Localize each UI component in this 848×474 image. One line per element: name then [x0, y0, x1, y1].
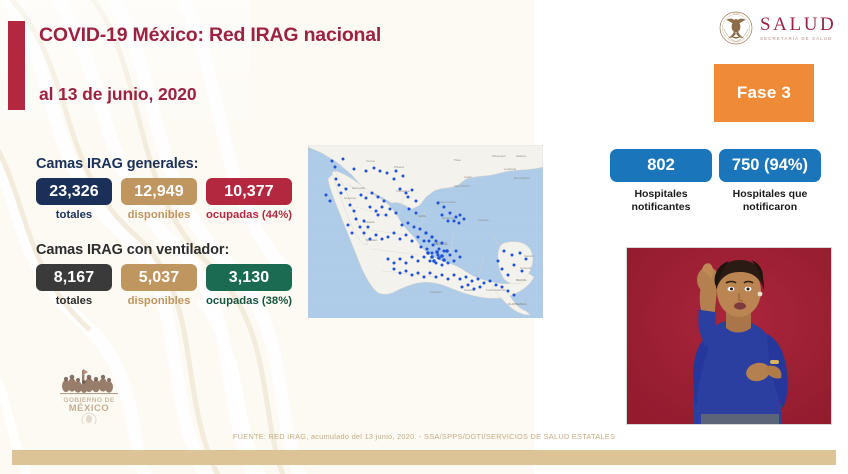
hospital-value-badge: 802 — [610, 149, 712, 182]
svg-text:Chihuahua: Chihuahua — [396, 189, 410, 193]
salud-logo: ★ ★ ★ SALUD SECRETARÍA DE SALUD — [719, 11, 836, 45]
stat-sublabel: disponibles — [121, 295, 197, 308]
svg-text:Austin: Austin — [464, 175, 472, 179]
stat-item-general-disponibles: 12,949 disponibles — [121, 178, 197, 222]
interpreter-figure — [627, 248, 832, 425]
beds-general-row: 23,326 totales 12,949 disponibles 10,377… — [36, 178, 292, 222]
hospital-value-badge: 750 (94%) — [719, 149, 821, 182]
sign-language-interpreter-video[interactable] — [626, 247, 832, 425]
svg-text:Tampico: Tampico — [478, 218, 489, 222]
svg-text:Mazatlán: Mazatlán — [366, 238, 378, 242]
salud-subtitle: SECRETARÍA DE SALUD — [760, 37, 836, 41]
stat-item-ventilator-totales: 8,167 totales — [36, 264, 112, 308]
map-graphic: Tucson Phoenix Tulsa Shreveport Jackson … — [308, 145, 543, 318]
beds-general-heading: Camas IRAG generales: — [36, 156, 292, 172]
gobierno-de-mexico-emblem: GOBIERNO DE MÉXICO — [58, 366, 122, 424]
stat-sublabel: ocupadas (44%) — [206, 209, 292, 222]
svg-text:GUATEMALA: GUATEMALA — [508, 302, 528, 306]
svg-text:Cancún: Cancún — [524, 254, 534, 258]
beds-ventilator-group: Camas IRAG con ventilador: 8,167 totales… — [36, 242, 292, 308]
svg-text:Louisiana: Louisiana — [504, 167, 516, 171]
page-title: COVID-19 México: Red IRAG nacional — [39, 24, 381, 47]
mexico-hospital-dot-map[interactable]: Tucson Phoenix Tulsa Shreveport Jackson … — [308, 145, 543, 318]
stat-value-badge: 23,326 — [36, 178, 112, 205]
svg-text:★ ★ ★: ★ ★ ★ — [733, 13, 739, 16]
svg-text:Hermosillo: Hermosillo — [352, 186, 366, 190]
phase-label: Fase 3 — [737, 83, 791, 103]
stat-item-ventilator-disponibles: 5,037 disponibles — [121, 264, 197, 308]
svg-text:San-Antonio: San-Antonio — [454, 184, 470, 188]
svg-text:Acapulco: Acapulco — [430, 290, 442, 294]
stat-value-badge: 5,037 — [121, 264, 197, 291]
svg-text:Phoenix: Phoenix — [394, 165, 405, 169]
stat-item-general-totales: 23,326 totales — [36, 178, 112, 222]
hospital-stats-group: 802 Hospitales notificantes 750 (94%) Ho… — [610, 149, 821, 215]
presentation-slide: COVID-19 México: Red IRAG nacional al 13… — [0, 0, 848, 474]
stat-value-badge: 3,130 — [206, 264, 292, 291]
stat-sublabel: totales — [36, 295, 112, 308]
hospital-label: Hospitales que notificaron — [719, 188, 821, 215]
svg-text:Monterrey: Monterrey — [442, 216, 455, 220]
stat-value-badge: 8,167 — [36, 264, 112, 291]
svg-text:Golfo: Golfo — [498, 221, 511, 227]
svg-text:New Orleans: New Orleans — [514, 176, 531, 180]
salud-wordmark: SALUD — [760, 15, 836, 34]
svg-text:Nuevo Laredo: Nuevo Laredo — [438, 200, 456, 204]
svg-text:Jackson: Jackson — [516, 154, 527, 158]
hospital-label-line2: notificantes — [610, 201, 712, 214]
svg-text:Cozumel: Cozumel — [520, 266, 531, 270]
svg-text:BELICE: BELICE — [516, 278, 526, 282]
svg-text:Guaymas: Guaymas — [344, 196, 357, 200]
stat-item-general-ocupadas: 10,377 ocupadas (44%) — [206, 178, 292, 222]
beds-ventilator-row: 8,167 totales 5,037 disponibles 3,130 oc… — [36, 264, 292, 308]
beds-general-group: Camas IRAG generales: 23,326 totales 12,… — [36, 156, 292, 222]
stat-value-badge: 12,949 — [121, 178, 197, 205]
mexican-eagle-seal-icon: ★ ★ ★ — [719, 11, 753, 45]
hospital-label: Hospitales notificantes — [610, 188, 712, 215]
svg-text:Shreveport: Shreveport — [492, 154, 506, 158]
svg-text:Culiacán: Culiacán — [364, 220, 375, 224]
phase-badge: Fase 3 — [714, 64, 814, 122]
stat-sublabel: disponibles — [121, 209, 197, 222]
svg-text:Tucson: Tucson — [366, 159, 376, 163]
hospital-label-line2: notificaron — [719, 201, 821, 214]
hospital-label-line1: Hospitales que — [719, 188, 821, 201]
hospital-stat-notificantes: 802 Hospitales notificantes — [610, 149, 712, 215]
stat-sublabel: ocupadas (38%) — [206, 295, 292, 308]
title-accent-bar — [8, 21, 25, 110]
footer-source-text: FUENTE: RED IRAG, acumulado del 13 junio… — [0, 432, 848, 441]
stat-value-badge: 10,377 — [206, 178, 292, 205]
svg-text:Saltillo: Saltillo — [418, 214, 427, 218]
beds-ventilator-heading: Camas IRAG con ventilador: — [36, 242, 292, 258]
stat-sublabel: totales — [36, 209, 112, 222]
footer-accent-bar — [12, 450, 836, 465]
emblem-line2: MÉXICO — [69, 402, 110, 413]
svg-text:Tulsa: Tulsa — [454, 158, 461, 162]
svg-text:Tuxtla Gutiérrez: Tuxtla Gutiérrez — [486, 288, 506, 292]
page-subtitle-date: al 13 de junio, 2020 — [39, 84, 197, 105]
hospital-stat-notificaron: 750 (94%) Hospitales que notificaron — [719, 149, 821, 215]
hospital-label-line1: Hospitales — [610, 188, 712, 201]
stat-item-ventilator-ocupadas: 3,130 ocupadas (38%) — [206, 264, 292, 308]
